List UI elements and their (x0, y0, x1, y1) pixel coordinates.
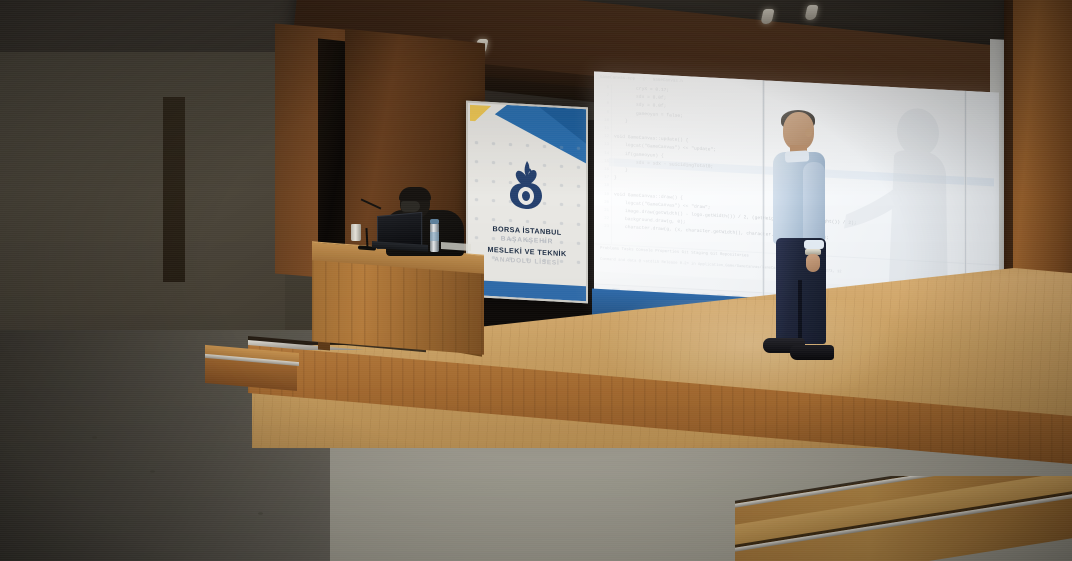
banner-blue-footer (468, 280, 588, 302)
tulip-logo-icon (505, 157, 549, 211)
bottle-label (430, 232, 439, 241)
projector-hotspot (949, 104, 975, 127)
presenter-arm (803, 162, 825, 248)
presenter-shoe (790, 345, 834, 360)
presenter-ear (805, 128, 812, 137)
floor-scuff (258, 512, 263, 515)
presenter-person (757, 112, 837, 370)
presenter-leg-seam (798, 280, 802, 344)
venue-banner: BORSA İSTANBUL BAŞAKŞEHİR MESLEKİ VE TEK… (466, 101, 588, 304)
banner-yellow-accent (470, 105, 492, 122)
floor-scuff (92, 436, 97, 439)
cup-icon (351, 224, 361, 241)
beanie-icon (399, 187, 431, 201)
line-number: 23 (598, 223, 609, 232)
stage-curtain (318, 38, 348, 276)
stage-stairs (735, 476, 1072, 561)
face-mask-icon (401, 201, 420, 212)
wall-corner-dark (163, 97, 185, 282)
presenter-hand (806, 254, 820, 272)
bottle-cap (430, 219, 439, 224)
ide-tab-inactive[interactable]: GameCanvas.h (653, 78, 683, 84)
ide-tab-active[interactable]: GameCanvas.cpp (600, 76, 635, 82)
banner-panel: BORSA İSTANBUL BAŞAKŞEHİR MESLEKİ VE TEK… (466, 101, 588, 304)
left-wall (0, 52, 300, 372)
presenter-cuff (804, 240, 824, 249)
floor-scuff (150, 470, 155, 473)
presenter-collar (785, 150, 810, 162)
auditorium-photo: BORSA İSTANBUL BAŞAKŞEHİR MESLEKİ VE TEK… (0, 0, 1072, 561)
